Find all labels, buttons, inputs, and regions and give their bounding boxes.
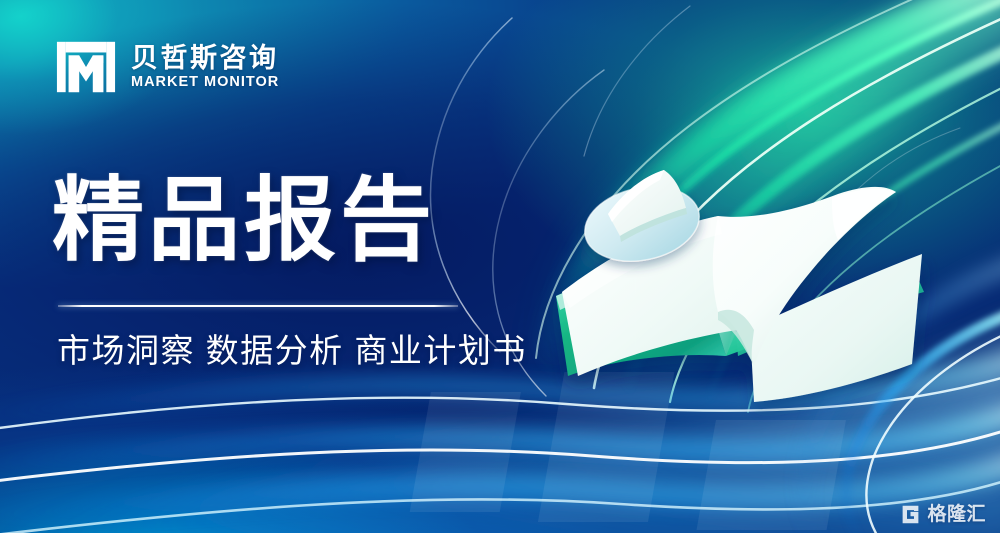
brand-name-en: MARKET MONITOR [131,75,279,90]
gelonghui-g-logo-icon [900,504,921,525]
source-watermark: 格隆汇 [900,504,986,525]
watermark-label: 格隆汇 [927,505,986,524]
brand-name-cn: 贝哲斯咨询 [131,44,279,72]
title-divider [58,305,458,307]
brand-logo: 贝哲斯咨询 MARKET MONITOR [55,36,279,98]
market-monitor-m-logo-icon [55,36,117,98]
page-subtitle: 市场洞察 数据分析 商业计划书 [57,330,527,373]
book-curl-highlight [832,189,896,240]
open-book-illustration [540,150,940,420]
report-banner: 贝哲斯咨询 MARKET MONITOR 精品报告 市场洞察 数据分析 商业计划… [0,0,1000,533]
page-title: 精品报告 [52,172,436,271]
brand-logo-text: 贝哲斯咨询 MARKET MONITOR [131,44,279,91]
